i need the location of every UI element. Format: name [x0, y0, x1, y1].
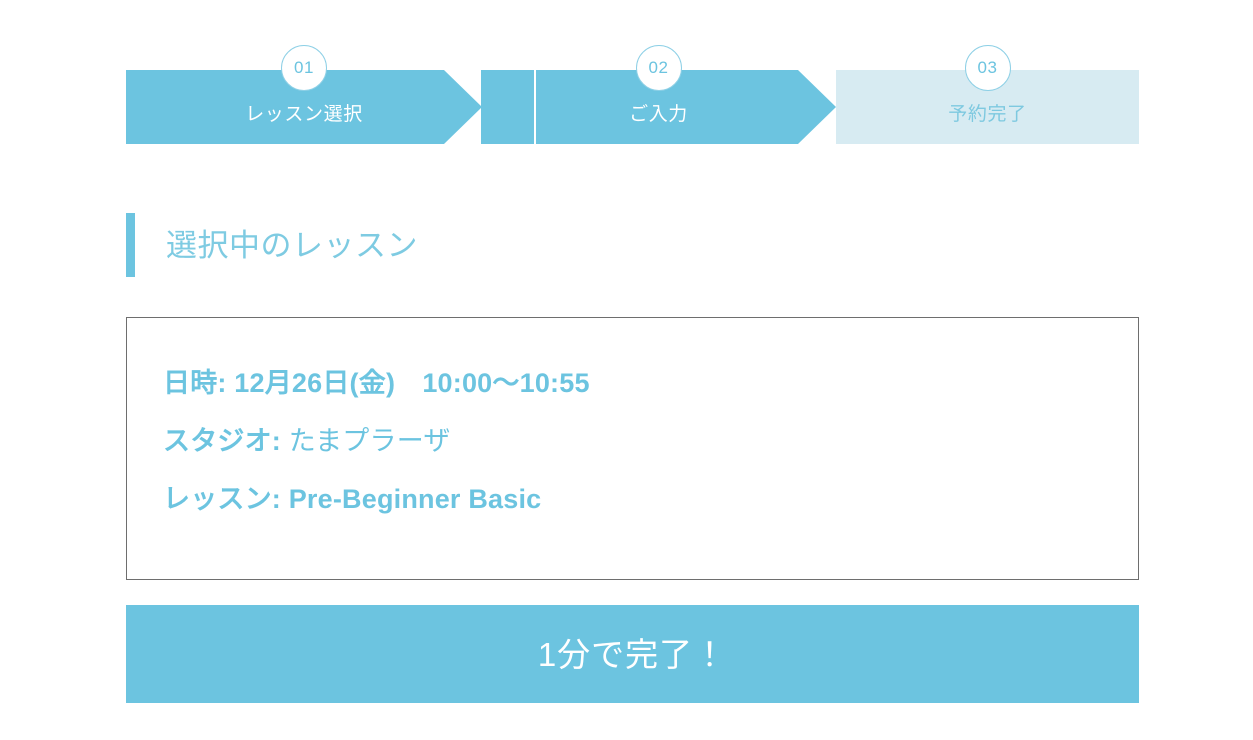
- step-3-number-badge: 03: [965, 45, 1011, 91]
- datetime-value: 12月26日(金) 10:00〜10:55: [234, 368, 589, 398]
- lesson-value: Pre-Beginner Basic: [289, 484, 542, 514]
- lesson-detail-row-studio: スタジオ: たまプラーザ: [163, 428, 1118, 455]
- lesson-label: レッスン:: [163, 484, 281, 514]
- step-2-label: ご入力: [629, 105, 688, 124]
- lesson-detail-row-datetime: 日時: 12月26日(金) 10:00〜10:55: [163, 370, 1118, 397]
- stepper-step-1[interactable]: 01 レッスン選択: [126, 70, 482, 144]
- step-3-label: 予約完了: [948, 105, 1026, 124]
- progress-stepper: 01 レッスン選択 02 ご入力 03 予約完了: [126, 70, 1139, 144]
- step-2-number-badge: 02: [636, 45, 682, 91]
- studio-value: たまプラーザ: [289, 426, 451, 456]
- completion-banner[interactable]: 1分で完了！: [126, 605, 1139, 703]
- stepper-step-2[interactable]: 02 ご入力: [481, 70, 836, 144]
- step-2-number: 02: [649, 58, 669, 78]
- lesson-detail-list: 日時: 12月26日(金) 10:00〜10:55 スタジオ: たまプラーザ レ…: [163, 370, 1118, 513]
- step-3-number: 03: [978, 58, 998, 78]
- lesson-detail-row-lesson: レッスン: Pre-Beginner Basic: [163, 486, 1118, 513]
- studio-label: スタジオ:: [163, 426, 281, 456]
- section-heading: 選択中のレッスン: [126, 213, 418, 277]
- selected-lesson-card: 日時: 12月26日(金) 10:00〜10:55 スタジオ: たまプラーザ レ…: [126, 317, 1139, 580]
- heading-accent-bar: [126, 213, 135, 277]
- datetime-label: 日時:: [163, 368, 227, 398]
- step-1-number-badge: 01: [281, 45, 327, 91]
- step-1-number: 01: [294, 58, 314, 78]
- step-1-label: レッスン選択: [245, 105, 363, 124]
- section-title: 選択中のレッスン: [166, 230, 418, 261]
- stepper-step-3[interactable]: 03 予約完了: [836, 70, 1139, 144]
- completion-banner-text: 1分で完了！: [538, 638, 727, 671]
